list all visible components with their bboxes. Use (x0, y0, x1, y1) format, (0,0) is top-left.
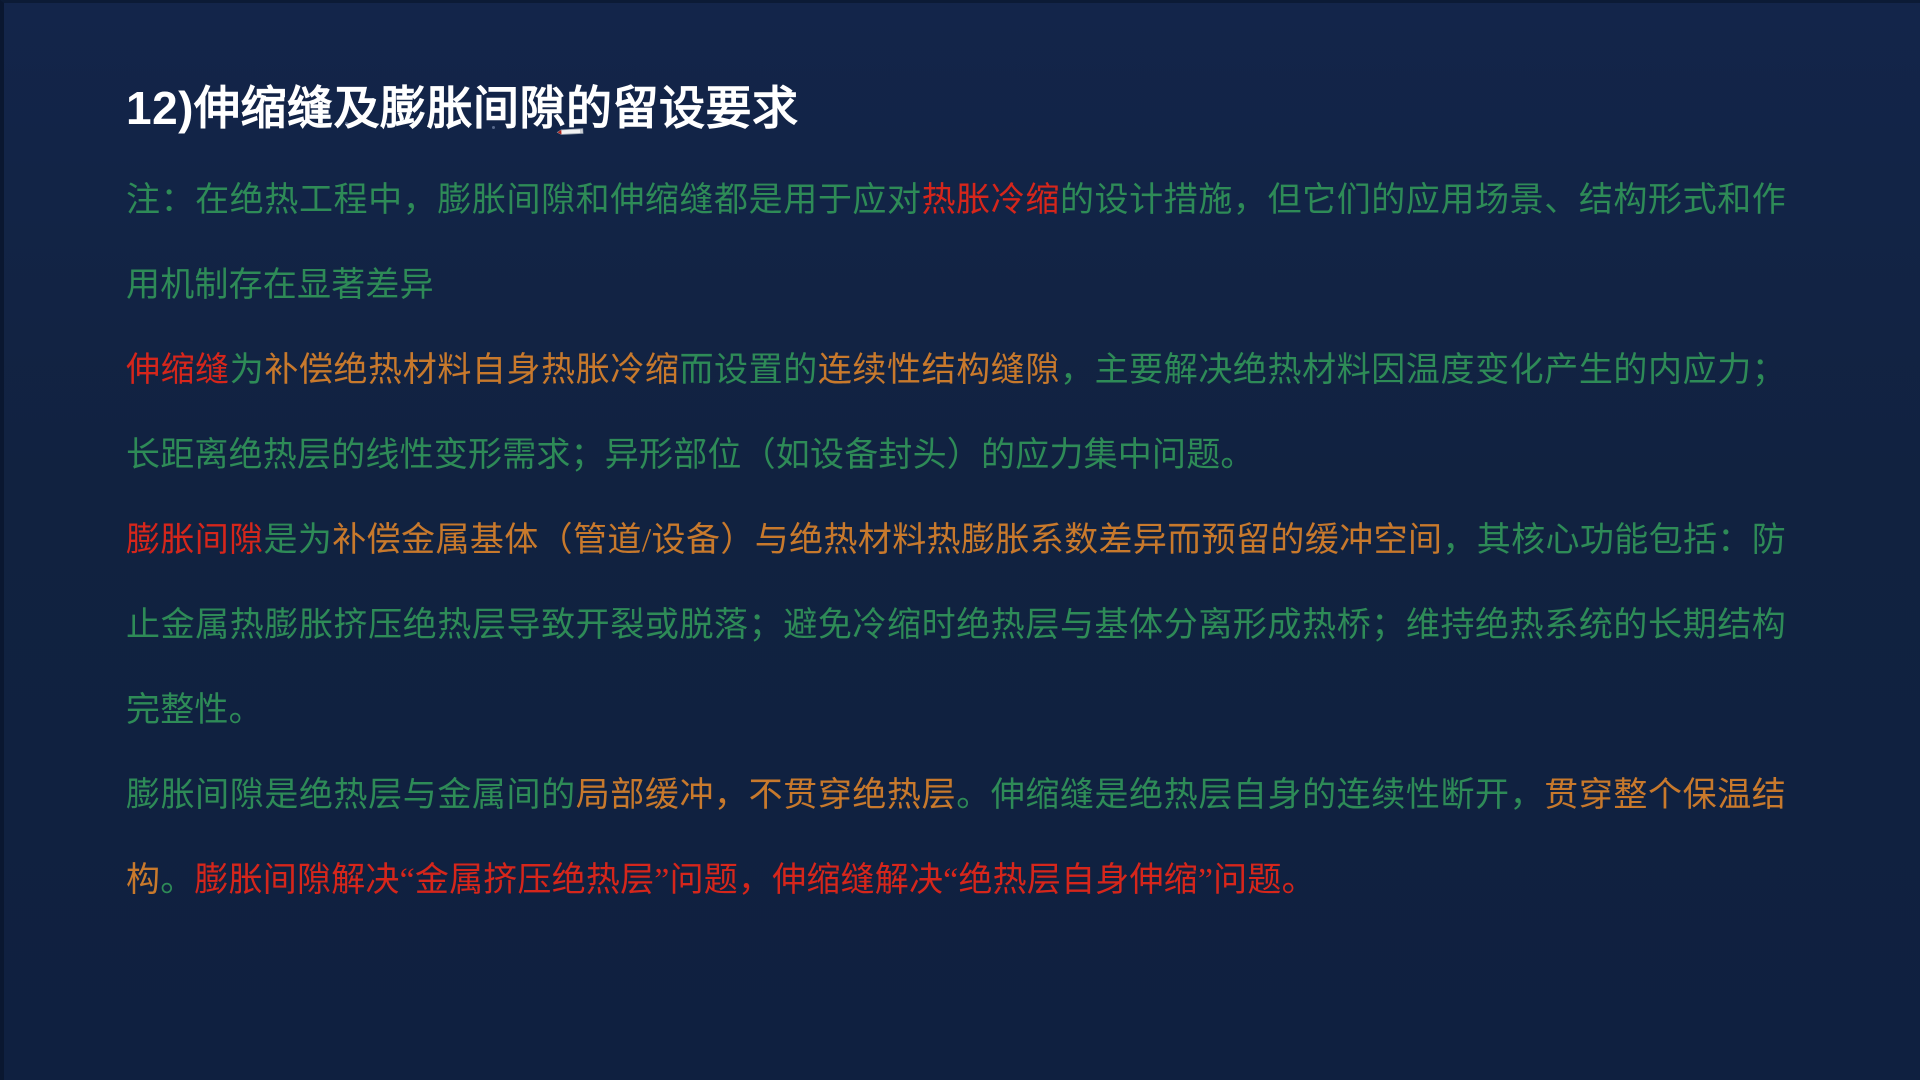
text-run-orange: 连续性结构缝隙 (818, 352, 1060, 389)
slide-canvas: 12)伸缩缝及膨胀间隙的留设要求 注：在绝热工程中，膨胀间隙和伸缩缝都是用于应对… (0, 0, 1920, 1080)
text-run-red: 膨胀间隙 (126, 522, 264, 559)
paragraph-expansion-gap: 膨胀间隙是为补偿金属基体（管道/设备）与绝热材料热膨胀系数差异而预留的缓冲空间，… (126, 498, 1786, 753)
text-run-green: 为 (230, 352, 265, 389)
text-run-orange: 补偿金属基体（管道/设备）与绝热材料热膨胀系数差异而预留的缓冲空间 (332, 522, 1442, 559)
paragraph-note: 注：在绝热工程中，膨胀间隙和伸缩缝都是用于应对热胀冷缩的设计措施，但它们的应用场… (126, 158, 1786, 328)
text-run-green: 膨胀间隙是绝热层与金属间的 (126, 777, 576, 814)
text-run-red: 伸缩缝 (126, 352, 230, 389)
text-run-green: 注：在绝热工程中，膨胀间隙和伸缩缝都是用于应对 (126, 182, 922, 219)
text-run-red: 膨胀间隙解决“金属挤压绝热层”问题，伸缩缝解决“绝热层自身伸缩”问题。 (194, 862, 1315, 899)
ink-dot (345, 122, 348, 125)
text-run-green: 。 (160, 862, 194, 899)
slide-body: 注：在绝热工程中，膨胀间隙和伸缩缝都是用于应对热胀冷缩的设计措施，但它们的应用场… (126, 158, 1786, 923)
text-run-orange: 补偿绝热材料自身热胀冷缩 (264, 352, 679, 389)
ink-dot (492, 126, 495, 129)
text-run-orange: 局部缓冲，不贯穿绝热层 (576, 777, 957, 814)
paragraph-expansion-joint: 伸缩缝为补偿绝热材料自身热胀冷缩而设置的连续性结构缝隙，主要解决绝热材料因温度变… (126, 328, 1786, 498)
paragraph-comparison: 膨胀间隙是绝热层与金属间的局部缓冲，不贯穿绝热层。伸缩缝是绝热层自身的连续性断开… (126, 753, 1786, 923)
text-run-green: 而设置的 (679, 352, 817, 389)
text-run-red: 热胀冷缩 (922, 182, 1060, 219)
page-title: 12)伸缩缝及膨胀间隙的留设要求 (126, 79, 798, 137)
text-run-green: 。伸缩缝是绝热层自身的连续性断开， (956, 777, 1544, 814)
text-run-green: 是为 (264, 522, 333, 559)
